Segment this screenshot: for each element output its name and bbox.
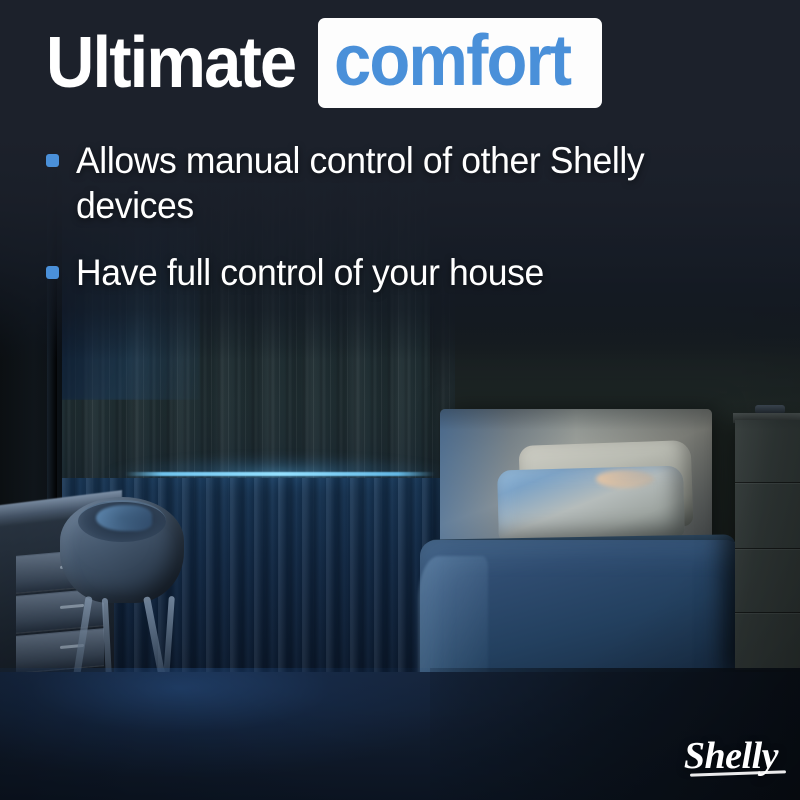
bullet-square-icon [46, 266, 59, 279]
overlay-content: Ultimate comfort Allows manual control o… [0, 0, 800, 800]
promo-image-canvas: Ultimate comfort Allows manual control o… [0, 0, 800, 800]
shelly-logo: Shelly [684, 734, 778, 778]
headline-accent-word: comfort [334, 25, 570, 97]
bullet-text: Allows manual control of other Shelly de… [76, 138, 671, 228]
list-item: Have full control of your house [46, 250, 696, 295]
headline-plain-word: Ultimate [46, 27, 303, 99]
bullet-text: Have full control of your house [76, 250, 544, 295]
bullet-list: Allows manual control of other Shelly de… [46, 138, 696, 317]
headline: Ultimate comfort [46, 18, 602, 108]
list-item: Allows manual control of other Shelly de… [46, 138, 696, 228]
bullet-square-icon [46, 154, 59, 167]
headline-accent-box: comfort [318, 18, 602, 108]
